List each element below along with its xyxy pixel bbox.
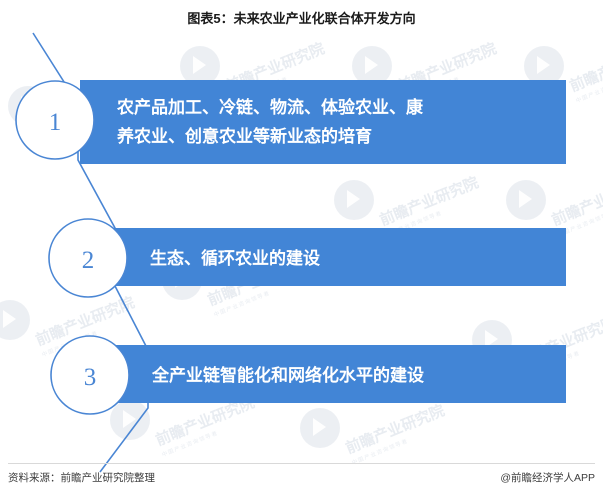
item-label-1-line-2: 养农业、创意农业等新业态的培育: [116, 126, 372, 146]
item-number-3: 3: [84, 364, 97, 391]
item-label-2-line-1: 生态、循环农业的建设: [150, 248, 320, 268]
item-number-2: 2: [82, 247, 95, 274]
footer-divider: [8, 463, 595, 464]
app-tag: @前瞻经济学人APP: [500, 470, 595, 485]
item-bar-1: [80, 80, 566, 164]
diagram-svg: 农产品加工、冷链、物流、体验农业、康 养农业、创意农业等新业态的培育 生态、循环…: [0, 0, 603, 500]
item-label-1-line-1: 农产品加工、冷链、物流、体验农业、康: [116, 97, 424, 117]
source-text: 资料来源：前瞻产业研究院整理: [8, 470, 155, 485]
item-label-3-line-1: 全产业链智能化和网络化水平的建设: [151, 365, 424, 385]
item-number-1: 1: [49, 109, 62, 136]
chart-canvas: 前瞻产业研究院 中国产业咨询领导者 前瞻产业研究院 中国产业咨询领导者 前瞻产业…: [0, 0, 603, 500]
